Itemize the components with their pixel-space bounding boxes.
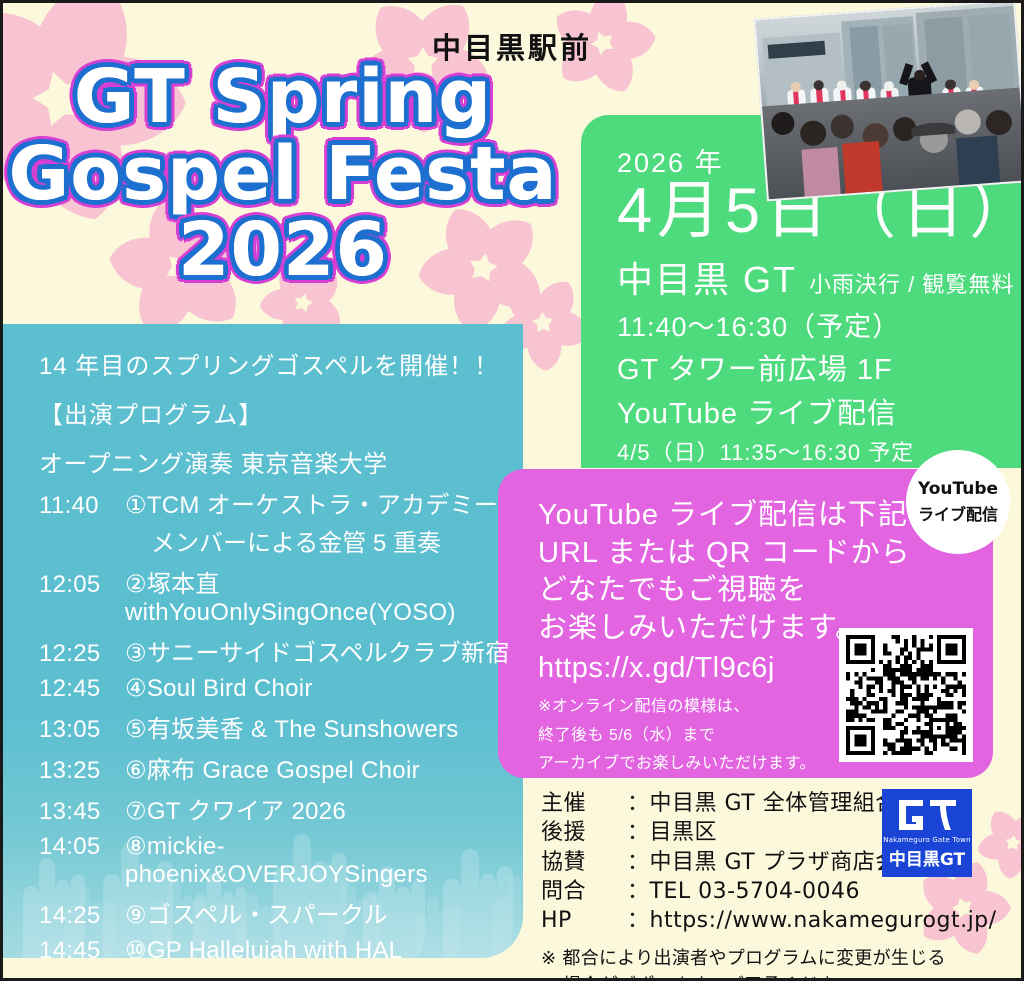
program-name: ②塚本直 withYouOnlySingOnce(YOSO) xyxy=(125,564,523,627)
program-row: 11:40①TCM オーケストラ・アカデミー xyxy=(39,485,523,520)
title-line-2: Gospel Festa xyxy=(3,138,563,211)
disclaimer: ※ 都合により出演者やプログラムに変更が生じる 場合がございます。ご了承ください… xyxy=(541,945,961,981)
program-time: 11:40 xyxy=(39,492,125,520)
program-opening: オープニング演奏 東京音楽大学 xyxy=(39,444,523,479)
program-row: 12:45④Soul Bird Choir xyxy=(39,674,523,703)
program-list: 11:40①TCM オーケストラ・アカデミーメンバーによる金管 5 重奏12:0… xyxy=(39,485,523,958)
program-name: ⑧mickie-phoenix&OVERJOYSingers xyxy=(125,832,523,889)
stream-label: YouTube ライブ配信 xyxy=(617,390,1024,432)
disclaimer-line-1: ※ 都合により出演者やプログラムに変更が生じる xyxy=(541,945,961,972)
program-name: ④Soul Bird Choir xyxy=(125,674,523,703)
program-row: 13:05⑤有坂美香 & The Sunshowers xyxy=(39,709,523,744)
credit-key: 後援 xyxy=(541,818,627,847)
disclaimer-line-2: 場合がございます。ご了承ください。 xyxy=(541,972,961,981)
venue-row: 中目黒 GT 小雨決行 / 観覧無料 xyxy=(617,251,1024,303)
poster-root: 中目黒駅前 GT Spring Gospel Festa 2026 xyxy=(0,0,1024,981)
program-name: ⑦GT クワイア 2026 xyxy=(125,791,523,826)
event-place: GT タワー前広場 1F xyxy=(617,346,1024,388)
program-name: ①TCM オーケストラ・アカデミー xyxy=(125,485,523,520)
program-row: 14:25⑨ゴスペル・スパークル xyxy=(39,895,523,930)
title-line-3: 2026 xyxy=(3,214,563,287)
gt-mark-icon xyxy=(896,797,958,833)
credit-key: HP xyxy=(541,906,627,935)
program-name: ⑨ゴスペル・スパークル xyxy=(125,895,523,930)
program-row: 13:45⑦GT クワイア 2026 xyxy=(39,791,523,826)
program-time: 14:45 xyxy=(39,937,125,958)
credit-row: 問合：TEL 03-5704-0046 xyxy=(541,877,961,906)
credit-separator: ： xyxy=(627,848,650,877)
gt-logo: Nakameguro Gate Town 中目黒GT xyxy=(882,789,972,877)
credit-row: HP：https://www.nakamegurogt.jp/ xyxy=(541,906,961,935)
youtube-badge-line-1: YouTube xyxy=(918,479,998,499)
youtube-text-line-3: どなたでもご視聴を xyxy=(538,572,993,610)
credit-key: 問合 xyxy=(541,877,627,906)
page-title: GT Spring Gospel Festa 2026 xyxy=(3,61,563,287)
program-row: 13:25⑥麻布 Grace Gospel Choir xyxy=(39,750,523,785)
program-row: 12:05②塚本直 withYouOnlySingOnce(YOSO) xyxy=(39,564,523,627)
program-row: 14:45⑩GP Hallelujah with HAL xyxy=(39,936,523,958)
title-line-1: GT Spring xyxy=(3,61,563,134)
program-time: 13:05 xyxy=(39,716,125,744)
program-name: ③サニーサイドゴスペルクラブ新宿 xyxy=(125,633,523,668)
program-time: 12:05 xyxy=(39,571,125,599)
youtube-badge-line-2: ライブ配信 xyxy=(918,501,998,525)
gt-logo-name: 中目黒GT xyxy=(889,845,965,870)
venue-note: 小雨決行 / 観覧無料 xyxy=(809,267,1014,299)
credit-value: https://www.nakamegurogt.jp/ xyxy=(650,906,997,935)
program-name-continued: メンバーによる金管 5 重奏 xyxy=(39,523,523,558)
program-time: 13:45 xyxy=(39,798,125,826)
program-section-title: 【出演プログラム】 xyxy=(39,395,523,430)
program-headline: 14 年目のスプリングゴスペルを開催！！ xyxy=(39,346,523,381)
program-time: 14:05 xyxy=(39,833,125,861)
credit-key: 協賛 xyxy=(541,848,627,877)
qr-code-canvas xyxy=(846,635,966,755)
program-time: 13:25 xyxy=(39,757,125,785)
program-row: 14:05⑧mickie-phoenix&OVERJOYSingers xyxy=(39,832,523,889)
program-content: 14 年目のスプリングゴスペルを開催！！ 【出演プログラム】 オープニング演奏 … xyxy=(39,346,523,958)
credit-separator: ： xyxy=(627,877,650,906)
program-time: 12:25 xyxy=(39,640,125,668)
event-time: 11:40〜16:30（予定） xyxy=(617,305,1024,344)
credit-value: TEL 03-5704-0046 xyxy=(650,877,961,906)
program-name: ⑤有坂美香 & The Sunshowers xyxy=(125,709,523,744)
credit-key: 主催 xyxy=(541,789,627,818)
program-name: ⑥麻布 Grace Gospel Choir xyxy=(125,750,523,785)
venue-name: 中目黒 GT xyxy=(617,251,797,303)
credit-separator: ： xyxy=(627,789,650,818)
credit-separator: ： xyxy=(627,818,650,847)
gt-logo-subtitle: Nakameguro Gate Town xyxy=(883,836,971,844)
qr-code-icon[interactable] xyxy=(839,628,973,762)
program-time: 12:45 xyxy=(39,675,125,703)
program-row: 12:25③サニーサイドゴスペルクラブ新宿 xyxy=(39,633,523,668)
credit-separator: ： xyxy=(627,906,650,935)
event-photo xyxy=(754,0,1024,201)
youtube-live-badge: YouTube ライブ配信 xyxy=(906,450,1010,554)
program-time: 14:25 xyxy=(39,902,125,930)
program-name: ⑩GP Hallelujah with HAL xyxy=(125,936,523,958)
program-panel: 14 年目のスプリングゴスペルを開催！！ 【出演プログラム】 オープニング演奏 … xyxy=(3,324,523,958)
